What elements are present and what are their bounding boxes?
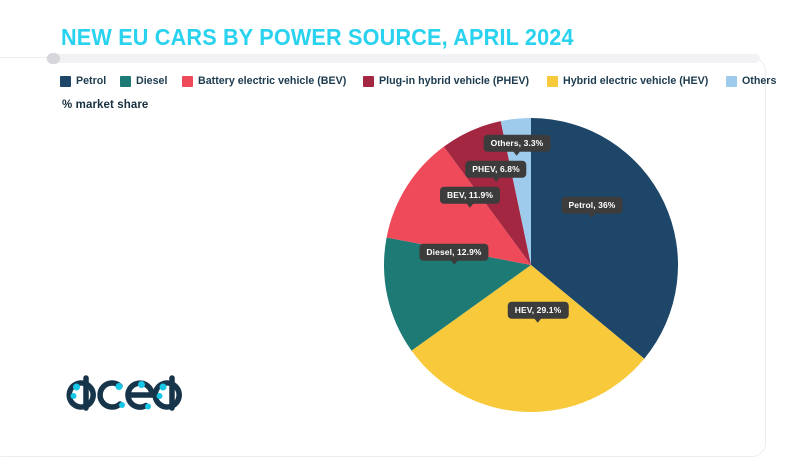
legend-label-others: Others bbox=[742, 76, 776, 87]
logo-dot-5 bbox=[138, 381, 145, 388]
pie-label-others: Others, 3.3% bbox=[484, 135, 551, 152]
logo-dot-1 bbox=[73, 384, 80, 391]
legend-label-diesel: Diesel bbox=[136, 76, 167, 87]
pie-slice-group bbox=[384, 118, 678, 412]
pie-label-phev: PHEV, 6.8% bbox=[465, 161, 526, 178]
legend-swatch-others bbox=[726, 76, 737, 87]
pie-label-bev: BEV, 11.9% bbox=[440, 187, 500, 204]
legend-swatch-phev bbox=[363, 76, 374, 87]
logo-dot-4 bbox=[119, 402, 125, 408]
legend-swatch-petrol bbox=[60, 76, 71, 87]
legend-item-hev[interactable]: Hybrid electric vehicle (HEV) bbox=[547, 76, 713, 87]
legend-item-petrol[interactable]: Petrol bbox=[60, 76, 107, 87]
logo-dot-7 bbox=[160, 384, 167, 391]
legend-swatch-bev bbox=[182, 76, 193, 87]
logo-dot-3 bbox=[116, 383, 123, 390]
chart-legend: Petrol Diesel Battery electric vehicle (… bbox=[60, 76, 777, 87]
horizontal-scrollbar-track[interactable] bbox=[46, 54, 760, 63]
horizontal-scrollbar-thumb[interactable] bbox=[47, 53, 60, 64]
legend-label-phev: Plug-in hybrid vehicle (PHEV) bbox=[379, 76, 529, 87]
pie-label-hev: HEV, 29.1% bbox=[508, 302, 569, 319]
legend-item-bev[interactable]: Battery electric vehicle (BEV) bbox=[182, 76, 351, 87]
legend-item-phev[interactable]: Plug-in hybrid vehicle (PHEV) bbox=[363, 76, 534, 87]
axis-label: % market share bbox=[62, 99, 148, 111]
legend-label-hev: Hybrid electric vehicle (HEV) bbox=[563, 76, 708, 87]
page-title: NEW EU CARS BY POWER SOURCE, APRIL 2024 bbox=[61, 24, 574, 51]
pie-chart: Petrol, 36% HEV, 29.1% Diesel, 12.9% BEV… bbox=[383, 117, 679, 413]
legend-label-petrol: Petrol bbox=[76, 76, 106, 87]
legend-item-others[interactable]: Others bbox=[726, 76, 777, 87]
logo-dot-2 bbox=[71, 393, 77, 399]
pie-chart-svg bbox=[383, 117, 679, 413]
acea-logo bbox=[60, 358, 190, 420]
legend-label-bev: Battery electric vehicle (BEV) bbox=[198, 76, 346, 87]
pie-label-diesel: Diesel, 12.9% bbox=[419, 244, 488, 261]
logo-dot-8 bbox=[157, 393, 163, 399]
legend-swatch-diesel bbox=[120, 76, 131, 87]
logo-dot-6 bbox=[145, 404, 151, 410]
legend-swatch-hev bbox=[547, 76, 558, 87]
pie-label-petrol: Petrol, 36% bbox=[562, 197, 623, 214]
legend-item-diesel[interactable]: Diesel bbox=[120, 76, 168, 87]
